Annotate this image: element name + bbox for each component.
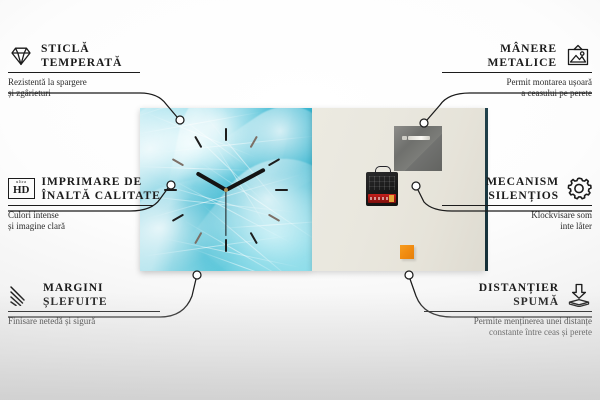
clock-face-panel bbox=[140, 108, 312, 271]
down-arrow-layer-icon bbox=[566, 283, 592, 307]
feature-subtitle-line2: constante între ceas și perete bbox=[424, 327, 592, 339]
feature-subtitle: Klockvisare som bbox=[442, 210, 592, 222]
feature-sticla-temperata[interactable]: STICLĂ TEMPERATĂ Rezistentă la spargere … bbox=[8, 42, 140, 100]
foam-spacer bbox=[400, 245, 414, 259]
picture-frame-icon bbox=[564, 44, 592, 68]
feature-title: IMPRIMARE DE bbox=[42, 175, 161, 189]
gear-icon bbox=[566, 176, 592, 201]
feature-subtitle: Permite menținerea unei distanțe bbox=[424, 316, 592, 328]
feature-title-line2: SILENȚIOS bbox=[486, 189, 559, 203]
feature-title: MÂNERE bbox=[488, 42, 557, 56]
feature-title-line2: ȘLEFUITE bbox=[43, 295, 108, 309]
clock-tick bbox=[225, 239, 227, 252]
divider bbox=[8, 205, 153, 206]
clock-tick bbox=[275, 189, 288, 191]
polished-edges-icon bbox=[8, 284, 36, 306]
diamond-icon bbox=[8, 45, 34, 67]
feature-title-line2: TEMPERATĂ bbox=[41, 56, 122, 70]
feature-mecanism-silentios[interactable]: MECANISM SILENȚIOS Klockvisare som inte … bbox=[442, 175, 592, 233]
divider bbox=[442, 205, 592, 206]
feature-title-line2: SPUMĂ bbox=[479, 295, 559, 309]
feature-manere-metalice[interactable]: MÂNERE METALICE Permit montarea ușoară a… bbox=[442, 42, 592, 100]
infographic-stage: STICLĂ TEMPERATĂ Rezistentă la spargere … bbox=[0, 0, 600, 400]
feature-subtitle: Finisare netedă și sigură bbox=[8, 316, 160, 328]
feature-title-line2: ÎNALTĂ CALITATE bbox=[42, 189, 161, 203]
feature-subtitle-line2: și imagine clară bbox=[8, 221, 153, 233]
battery bbox=[368, 194, 396, 203]
ultra-hd-icon: ultra HD bbox=[8, 178, 35, 200]
feature-subtitle-line2: a ceasului pe perete bbox=[442, 88, 592, 100]
divider bbox=[442, 72, 592, 73]
feature-title-line2: METALICE bbox=[488, 56, 557, 70]
ultra-hd-icon-large-text: HD bbox=[13, 185, 30, 196]
feature-subtitle-line2: inte låter bbox=[442, 221, 592, 233]
feature-distantier-spuma[interactable]: DISTANȚIER SPUMĂ Permite menținerea unei… bbox=[424, 281, 592, 339]
metal-hanger-plate bbox=[394, 126, 442, 171]
connector-dot-margini bbox=[193, 271, 201, 279]
clock-tick bbox=[225, 128, 227, 141]
clock-hub bbox=[224, 188, 228, 192]
feature-subtitle-line2: și zgârieturi bbox=[8, 88, 140, 100]
divider bbox=[8, 72, 140, 73]
product-image bbox=[140, 108, 485, 271]
clock-tick bbox=[164, 189, 177, 191]
hanger-loop-icon bbox=[375, 166, 391, 175]
feature-title: MARGINI bbox=[43, 281, 108, 295]
clock-mechanism bbox=[366, 172, 398, 206]
feature-title: STICLĂ bbox=[41, 42, 122, 56]
feature-margini-slefuite[interactable]: MARGINI ȘLEFUITE Finisare netedă și sigu… bbox=[8, 281, 160, 327]
feature-title: MECANISM bbox=[486, 175, 559, 189]
divider bbox=[8, 311, 160, 312]
feature-subtitle: Rezistentă la spargere bbox=[8, 77, 140, 89]
divider bbox=[424, 311, 592, 312]
feature-subtitle: Culori intense bbox=[8, 210, 153, 222]
connector-dot-distantier bbox=[405, 271, 413, 279]
feature-subtitle: Permit montarea ușoară bbox=[442, 77, 592, 89]
feature-imprimare-de-inalta-calitate[interactable]: ultra HD IMPRIMARE DE ÎNALTĂ CALITATE Cu… bbox=[8, 175, 153, 233]
feature-title: DISTANȚIER bbox=[479, 281, 559, 295]
